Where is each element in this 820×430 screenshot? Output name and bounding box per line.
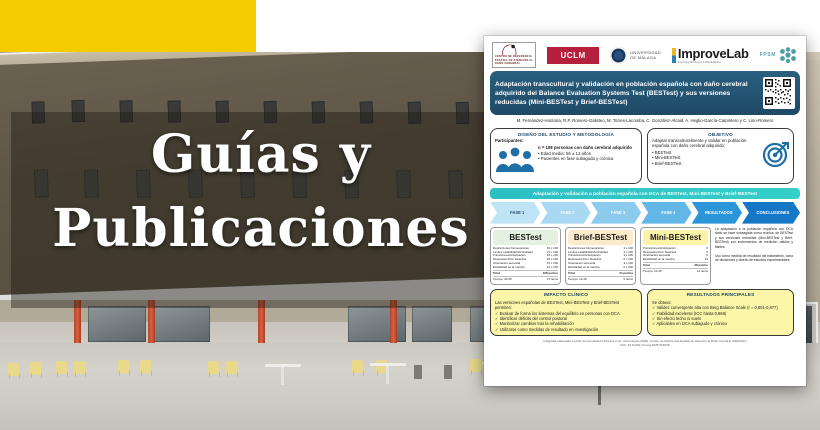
- flow-step-4-label: RESULTADOS: [705, 210, 733, 215]
- card-methodology: DISEÑO DEL ESTUDIO Y METODOLOGÍA Partici…: [490, 128, 642, 184]
- conclusion-0: La adaptación a la población española co…: [715, 227, 793, 250]
- logo-ceadac-caption: CENTRO DE REFERENCIA ESTATAL DE ATENCIÓN…: [495, 55, 535, 65]
- impacto-bullet-1: Identificar déficits del control postura…: [500, 316, 567, 321]
- improvelab-name: ImproveLab: [678, 46, 749, 61]
- outdoor-chair: [140, 360, 151, 373]
- poster-conclusions: La adaptación a la población española co…: [715, 227, 793, 285]
- objective-text: Adaptar transculturalmente y validar en …: [652, 138, 761, 149]
- poster-tests-row: BESTest Restricciones biomecánicas15 x 1…: [490, 227, 800, 285]
- test-0-time: Tiempo: 30-35': [493, 278, 540, 282]
- conclusion-1: Uso como medida de resultado del tratami…: [715, 254, 793, 263]
- flow-step-3-label: FASE 4: [661, 210, 675, 215]
- flow-step-5-label: CONCLUSIONES: [757, 210, 790, 215]
- page-title-line-2: Publicaciones: [11, 192, 511, 266]
- flow-step-1-label: FASE 2: [561, 210, 575, 215]
- research-poster[interactable]: CENTRO DE REFERENCIA ESTATAL DE ATENCIÓN…: [484, 36, 806, 386]
- window: [412, 306, 452, 342]
- table-row: Tiempo: 10-15'14 ítems: [643, 270, 708, 274]
- methodology-bullet-0: n = 108 personas con daño cerebral adqui…: [538, 145, 632, 150]
- gov-header-bar: [0, 0, 256, 52]
- outdoor-chair: [352, 360, 363, 373]
- poster-banner: Adaptación y validación a población espa…: [490, 188, 800, 199]
- improvelab-subtitle: Improving Movement & Rehabilitation: [678, 61, 749, 64]
- window: [348, 306, 406, 342]
- uma-caption-line-2: DE MÁLAGA: [630, 55, 661, 60]
- test-1-time: Tiempo: 10-15': [568, 278, 616, 282]
- outdoor-chair: [470, 359, 481, 372]
- page-root: Guías y Publicaciones GOBIERNO DE ESPAÑA…: [0, 0, 820, 430]
- improvelab-bar-icon: [672, 48, 676, 63]
- outdoor-table: [265, 364, 301, 367]
- box-resultados-principales: RESULTADOS PRINCIPALES Se obtuvo: ✓ Vali…: [647, 289, 794, 336]
- impacto-intro: Las versiones españolas de BESTest, Mini…: [495, 300, 637, 311]
- test-card-brief-bestest: Brief-BESTest Restricciones biomecánicas…: [565, 227, 636, 285]
- outdoor-chair: [208, 361, 219, 374]
- poster-title: Adaptación transcultural y validación en…: [495, 80, 758, 107]
- window: [152, 306, 210, 342]
- test-1-total-value: 24 puntos: [616, 272, 633, 276]
- fpsm-flower-icon: [778, 47, 798, 64]
- flow-step-1: FASE 2: [540, 202, 590, 224]
- outdoor-chair: [56, 361, 67, 374]
- methodology-bullet-2: Pacientes en fase subaguda y crónica: [541, 156, 614, 161]
- flow-step-3: FASE 4: [641, 202, 691, 224]
- uma-seal-icon: [610, 47, 627, 64]
- outdoor-chair: [118, 360, 129, 373]
- poster-title-band: Adaptación transcultural y validación en…: [490, 71, 800, 115]
- test-0-total-value: 108 puntos: [540, 272, 558, 276]
- resultados-bullet-3: Aplicables en DCA subagudo y crónico: [656, 321, 727, 326]
- card-objective: OBJETIVO Adaptar transculturalmente y va…: [647, 128, 794, 184]
- flow-step-0-label: FASE 1: [510, 210, 524, 215]
- fpsm-caption: FPSM: [760, 52, 776, 58]
- impacto-bullet-0: Evaluar de forma los sistemas del equili…: [500, 311, 620, 316]
- methodology-bullets: n = 108 personas con daño cerebral adqui…: [538, 145, 632, 175]
- test-2-name: Mini-BESTest: [643, 230, 708, 245]
- flow-step-4: RESULTADOS: [692, 202, 742, 224]
- target-arrow-icon: [763, 141, 789, 167]
- impacto-bullet-2: Monitorizar cambios tras la rehabilitaci…: [500, 321, 574, 326]
- outdoor-chair: [74, 361, 85, 374]
- objective-body: Adaptar transculturalmente y validar en …: [652, 138, 789, 167]
- window: [88, 306, 146, 342]
- qr-code[interactable]: [763, 77, 795, 109]
- table-row: Tiempo: 30-35'27 ítems: [493, 278, 558, 282]
- impacto-heading: IMPACTO CLÍNICO: [495, 293, 637, 298]
- test-0-name: BESTest: [493, 230, 558, 245]
- flow-step-5: CONCLUSIONES: [742, 202, 800, 224]
- test-2-items: 14 ítems: [689, 270, 708, 274]
- logo-ceadac: CENTRO DE REFERENCIA ESTATAL DE ATENCIÓN…: [492, 42, 536, 68]
- methodology-heading: DISEÑO DEL ESTUDIO Y METODOLOGÍA: [495, 132, 637, 137]
- poster-method-objective-row: DISEÑO DEL ESTUDIO Y METODOLOGÍA Partici…: [490, 128, 800, 184]
- methodology-body: n = 108 personas con daño cerebral adqui…: [495, 145, 637, 175]
- test-1-items: 6 ítems: [616, 278, 633, 282]
- flow-step-2: FASE 3: [591, 202, 641, 224]
- waste-bin: [414, 365, 422, 379]
- test-card-mini-bestest: Mini-BESTest Transiciones/Anticipación6 …: [640, 227, 711, 285]
- poster-footnote-line-2: DOI: 10.1016/j.nrl.eng.2025.501635: [490, 343, 800, 347]
- impacto-bullet-3: Utilizarse como medidas de resultado en …: [500, 327, 599, 332]
- box-impacto-clinico: IMPACTO CLÍNICO Las versiones españolas …: [490, 289, 642, 336]
- uma-caption: UNIVERSIDAD DE MÁLAGA: [630, 50, 661, 60]
- table-row: Tiempo: 10-15'6 ítems: [568, 278, 633, 282]
- page-title-line-1: Guías y: [11, 118, 511, 192]
- poster-footnote: Infografía elaborada a partir de Fernánd…: [490, 339, 800, 347]
- page-title: Guías y Publicaciones: [11, 118, 511, 266]
- flow-step-0: FASE 1: [490, 202, 540, 224]
- poster-bottom-row: IMPACTO CLÍNICO Las versiones españolas …: [490, 289, 800, 336]
- resultados-bullet-0: Validez convergente alta con Berg Balanc…: [657, 305, 778, 310]
- outdoor-chair: [226, 361, 237, 374]
- participants-people-icon: [495, 145, 535, 175]
- objective-bullet-1: Mini-BESTest: [655, 155, 681, 160]
- objective-heading: OBJETIVO: [652, 132, 789, 137]
- outdoor-chair: [8, 363, 19, 376]
- logo-uclm: UCLM: [547, 47, 599, 64]
- methodology-subheading: Participantes:: [495, 138, 637, 144]
- test-card-bestest: BESTest Restricciones biomecánicas15 x 1…: [490, 227, 561, 285]
- poster-flow-diagram: FASE 1 FASE 2 FASE 3 FASE 4 RESULTADOS C…: [490, 202, 800, 224]
- poster-logo-row: CENTRO DE REFERENCIA ESTATAL DE ATENCIÓN…: [490, 41, 800, 69]
- test-0-items: 27 ítems: [540, 278, 558, 282]
- poster-authors: M. Fernández-Hontoria, R.P. Romero-Galis…: [490, 118, 800, 124]
- methodology-bullet-1: Edad media: 56 ± 12 años: [541, 151, 591, 156]
- resultados-heading: RESULTADOS PRINCIPALES: [652, 293, 789, 298]
- waste-bin: [444, 365, 452, 379]
- logo-universidad-malaga: UNIVERSIDAD DE MÁLAGA: [610, 47, 661, 64]
- resultados-bullet-2: Sin efecto techo ni suelo: [657, 316, 702, 321]
- objective-bullet-2: Brief-BESTest: [655, 161, 682, 166]
- test-2-time: Tiempo: 10-15': [643, 270, 689, 274]
- test-1-name: Brief-BESTest: [568, 230, 633, 245]
- resultados-bullet-1: Fiabilidad excelente (ICC hasta 0,968): [657, 311, 727, 316]
- outdoor-chair: [30, 362, 41, 375]
- flow-step-2-label: FASE 3: [611, 210, 625, 215]
- objective-bullet-0: BESTest: [655, 150, 671, 155]
- logo-fpsm: FPSM: [760, 47, 798, 64]
- logo-improvelab: ImproveLab Improving Movement & Rehabili…: [672, 46, 749, 64]
- outdoor-table: [370, 363, 406, 366]
